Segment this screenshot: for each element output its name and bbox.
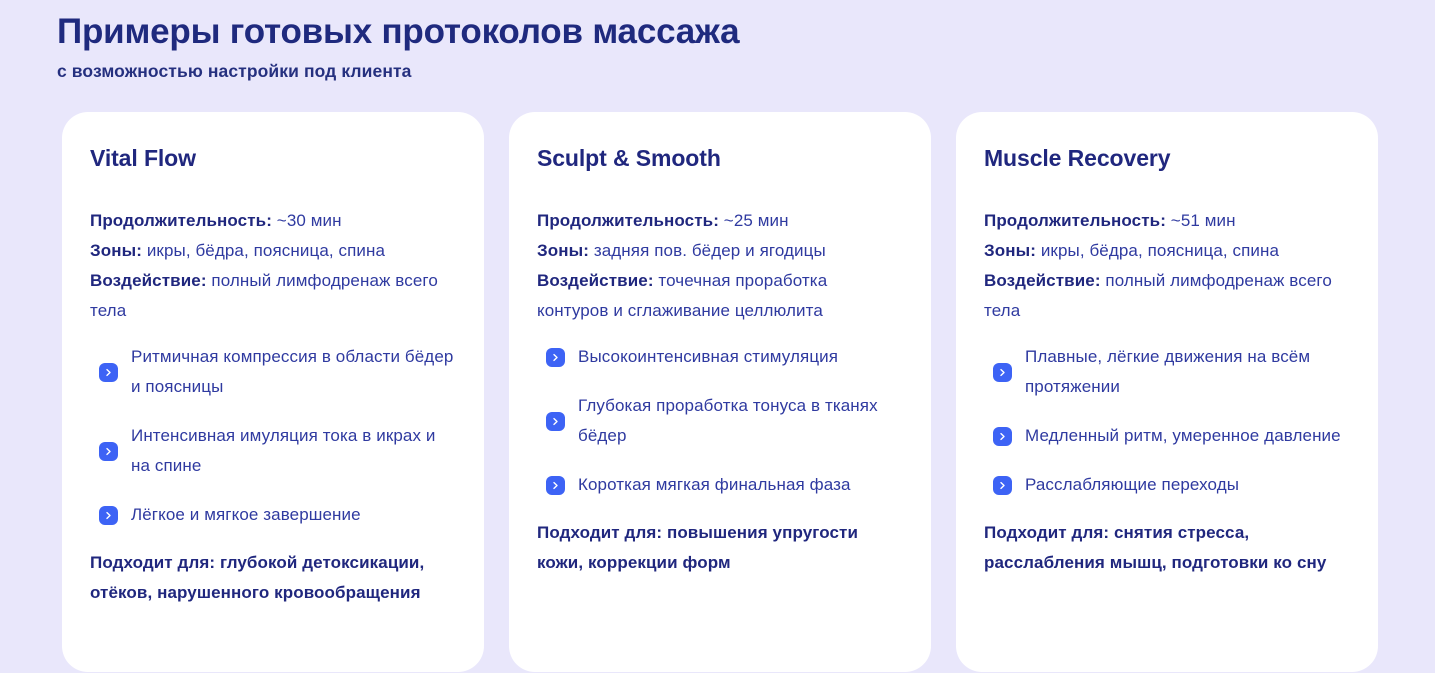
meta-duration-label: Продолжительность: [984, 211, 1166, 230]
protocol-card[interactable]: Vital Flow Продолжительность: ~30 мин Зо… [62, 112, 484, 672]
meta-zones-value: задняя пов. бёдер и ягодицы [594, 241, 826, 260]
protocol-card-title: Muscle Recovery [984, 144, 1350, 172]
chevron-right-icon [99, 363, 118, 382]
list-item: Глубокая проработка тонуса в тканях бёде… [537, 391, 903, 451]
meta-duration: Продолжительность: ~30 мин [90, 206, 456, 236]
feature-text: Расслабляющие переходы [1025, 470, 1239, 500]
list-item: Короткая мягкая финальная фаза [537, 470, 903, 500]
protocol-meta: Продолжительность: ~30 мин Зоны: икры, б… [90, 206, 456, 326]
feature-text: Короткая мягкая финальная фаза [578, 470, 851, 500]
protocol-card-list: Vital Flow Продолжительность: ~30 мин Зо… [0, 83, 1435, 672]
meta-duration-value: ~51 мин [1171, 211, 1236, 230]
protocol-feature-list: Ритмичная компрессия в области бёдер и п… [90, 342, 456, 530]
list-item: Лёгкое и мягкое завершение [90, 500, 456, 530]
protocol-feature-list: Плавные, лёгкие движения на всём протяже… [984, 342, 1350, 500]
list-item: Интенсивная имуляция тока в икрах и на с… [90, 421, 456, 481]
protocol-meta: Продолжительность: ~51 мин Зоны: икры, б… [984, 206, 1350, 326]
feature-text: Плавные, лёгкие движения на всём протяже… [1025, 342, 1350, 402]
meta-zones-value: икры, бёдра, поясница, спина [147, 241, 385, 260]
chevron-right-icon [993, 363, 1012, 382]
meta-effect-label: Воздействие: [537, 271, 654, 290]
meta-effect-label: Воздействие: [90, 271, 207, 290]
list-item: Плавные, лёгкие движения на всём протяже… [984, 342, 1350, 402]
meta-duration-value: ~25 мин [724, 211, 789, 230]
protocol-feature-list: Высокоинтенсивная стимуляция Глубокая пр… [537, 342, 903, 500]
protocol-suited-for: Подходит для: повышения упругости кожи, … [537, 518, 903, 578]
meta-zones: Зоны: икры, бёдра, поясница, спина [984, 236, 1350, 266]
chevron-right-icon [546, 476, 565, 495]
meta-effect: Воздействие: точечная проработка контуро… [537, 266, 903, 326]
chevron-right-icon [99, 506, 118, 525]
protocol-card[interactable]: Sculpt & Smooth Продолжительность: ~25 м… [509, 112, 931, 672]
chevron-right-icon [993, 476, 1012, 495]
protocol-suited-for: Подходит для: снятия стресса, расслаблен… [984, 518, 1350, 578]
meta-duration-label: Продолжительность: [90, 211, 272, 230]
meta-effect-label: Воздействие: [984, 271, 1101, 290]
meta-duration-value: ~30 мин [277, 211, 342, 230]
feature-text: Ритмичная компрессия в области бёдер и п… [131, 342, 456, 402]
meta-zones-label: Зоны: [537, 241, 589, 260]
chevron-right-icon [993, 427, 1012, 446]
feature-text: Глубокая проработка тонуса в тканях бёде… [578, 391, 903, 451]
list-item: Медленный ритм, умеренное давление [984, 421, 1350, 451]
meta-effect: Воздействие: полный лимфодренаж всего те… [984, 266, 1350, 326]
protocol-card[interactable]: Muscle Recovery Продолжительность: ~51 м… [956, 112, 1378, 672]
meta-zones: Зоны: задняя пов. бёдер и ягодицы [537, 236, 903, 266]
page-header: Примеры готовых протоколов массажа с воз… [0, 0, 1435, 83]
meta-duration: Продолжительность: ~51 мин [984, 206, 1350, 236]
protocol-card-title: Sculpt & Smooth [537, 144, 903, 172]
page-subtitle: с возможностью настройки под клиента [57, 59, 1435, 83]
list-item: Высокоинтенсивная стимуляция [537, 342, 903, 372]
meta-zones-label: Зоны: [984, 241, 1036, 260]
feature-text: Высокоинтенсивная стимуляция [578, 342, 838, 372]
meta-duration: Продолжительность: ~25 мин [537, 206, 903, 236]
chevron-right-icon [546, 412, 565, 431]
feature-text: Лёгкое и мягкое завершение [131, 500, 361, 530]
meta-zones-value: икры, бёдра, поясница, спина [1041, 241, 1279, 260]
chevron-right-icon [99, 442, 118, 461]
meta-effect: Воздействие: полный лимфодренаж всего те… [90, 266, 456, 326]
protocol-card-title: Vital Flow [90, 144, 456, 172]
feature-text: Интенсивная имуляция тока в икрах и на с… [131, 421, 456, 481]
chevron-right-icon [546, 348, 565, 367]
list-item: Ритмичная компрессия в области бёдер и п… [90, 342, 456, 402]
meta-zones: Зоны: икры, бёдра, поясница, спина [90, 236, 456, 266]
protocol-suited-for: Подходит для: глубокой детоксикации, отё… [90, 548, 456, 608]
list-item: Расслабляющие переходы [984, 470, 1350, 500]
feature-text: Медленный ритм, умеренное давление [1025, 421, 1341, 451]
meta-zones-label: Зоны: [90, 241, 142, 260]
meta-duration-label: Продолжительность: [537, 211, 719, 230]
protocol-meta: Продолжительность: ~25 мин Зоны: задняя … [537, 206, 903, 326]
page-title: Примеры готовых протоколов массажа [57, 10, 1435, 54]
protocol-examples-page: Примеры готовых протоколов массажа с воз… [0, 0, 1435, 673]
